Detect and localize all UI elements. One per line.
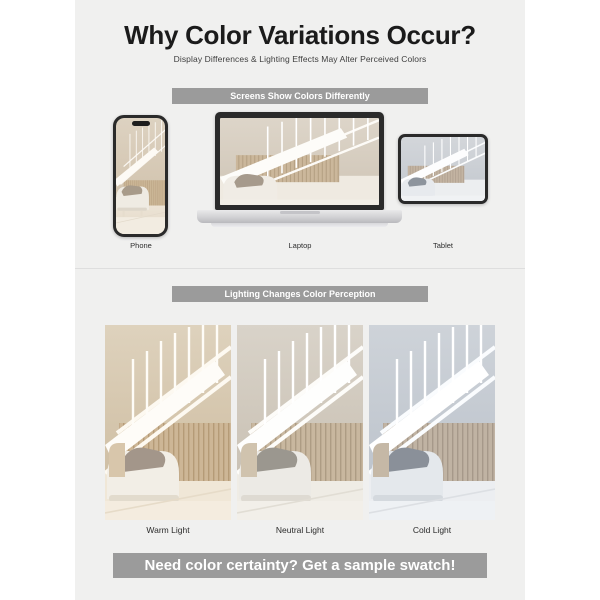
phone-notch-icon	[132, 121, 150, 126]
light-label-cold: Cold Light	[369, 525, 495, 535]
device-label-phone: Phone	[105, 241, 177, 250]
room-scene-cold	[369, 325, 495, 520]
section-divider	[75, 268, 525, 269]
device-showcase: Phone Laptop Tablet	[75, 112, 525, 244]
light-label-neutral: Neutral Light	[237, 525, 363, 535]
room-scene-warm-phone	[116, 118, 165, 234]
section-banner-screens: Screens Show Colors Differently	[172, 88, 428, 104]
page-title: Why Color Variations Occur?	[0, 20, 600, 51]
phone-body	[113, 115, 168, 237]
device-phone[interactable]	[113, 115, 168, 237]
room-scene-cold-tablet	[401, 137, 485, 201]
room-scene-neutral-laptop	[220, 118, 379, 205]
device-label-laptop: Laptop	[255, 241, 345, 250]
phone-screen	[116, 118, 165, 234]
infographic-page: Why Color Variations Occur? Display Diff…	[0, 0, 600, 600]
device-label-tablet: Tablet	[398, 241, 488, 250]
page-subtitle: Display Differences & Lighting Effects M…	[0, 54, 600, 64]
sofa-shape	[401, 177, 435, 198]
laptop-base	[197, 210, 402, 223]
laptop-screen	[220, 118, 379, 205]
room-scene-warm	[105, 325, 231, 520]
section-banner-lighting: Lighting Changes Color Perception	[172, 286, 428, 302]
light-label-warm: Warm Light	[105, 525, 231, 535]
tablet-body	[398, 134, 488, 204]
device-laptop[interactable]	[197, 112, 402, 242]
room-scene-neutral	[237, 325, 363, 520]
device-tablet[interactable]	[398, 134, 488, 204]
laptop-lid	[215, 112, 384, 210]
light-panel-warm[interactable]	[105, 325, 231, 520]
cta-banner[interactable]: Need color certainty? Get a sample swatc…	[113, 553, 487, 578]
light-panel-neutral[interactable]	[237, 325, 363, 520]
lighting-comparison: Warm Light Neutral Light Cold Light	[105, 325, 495, 520]
tablet-screen	[401, 137, 485, 201]
light-panel-cold[interactable]	[369, 325, 495, 520]
laptop-foot	[211, 223, 388, 227]
